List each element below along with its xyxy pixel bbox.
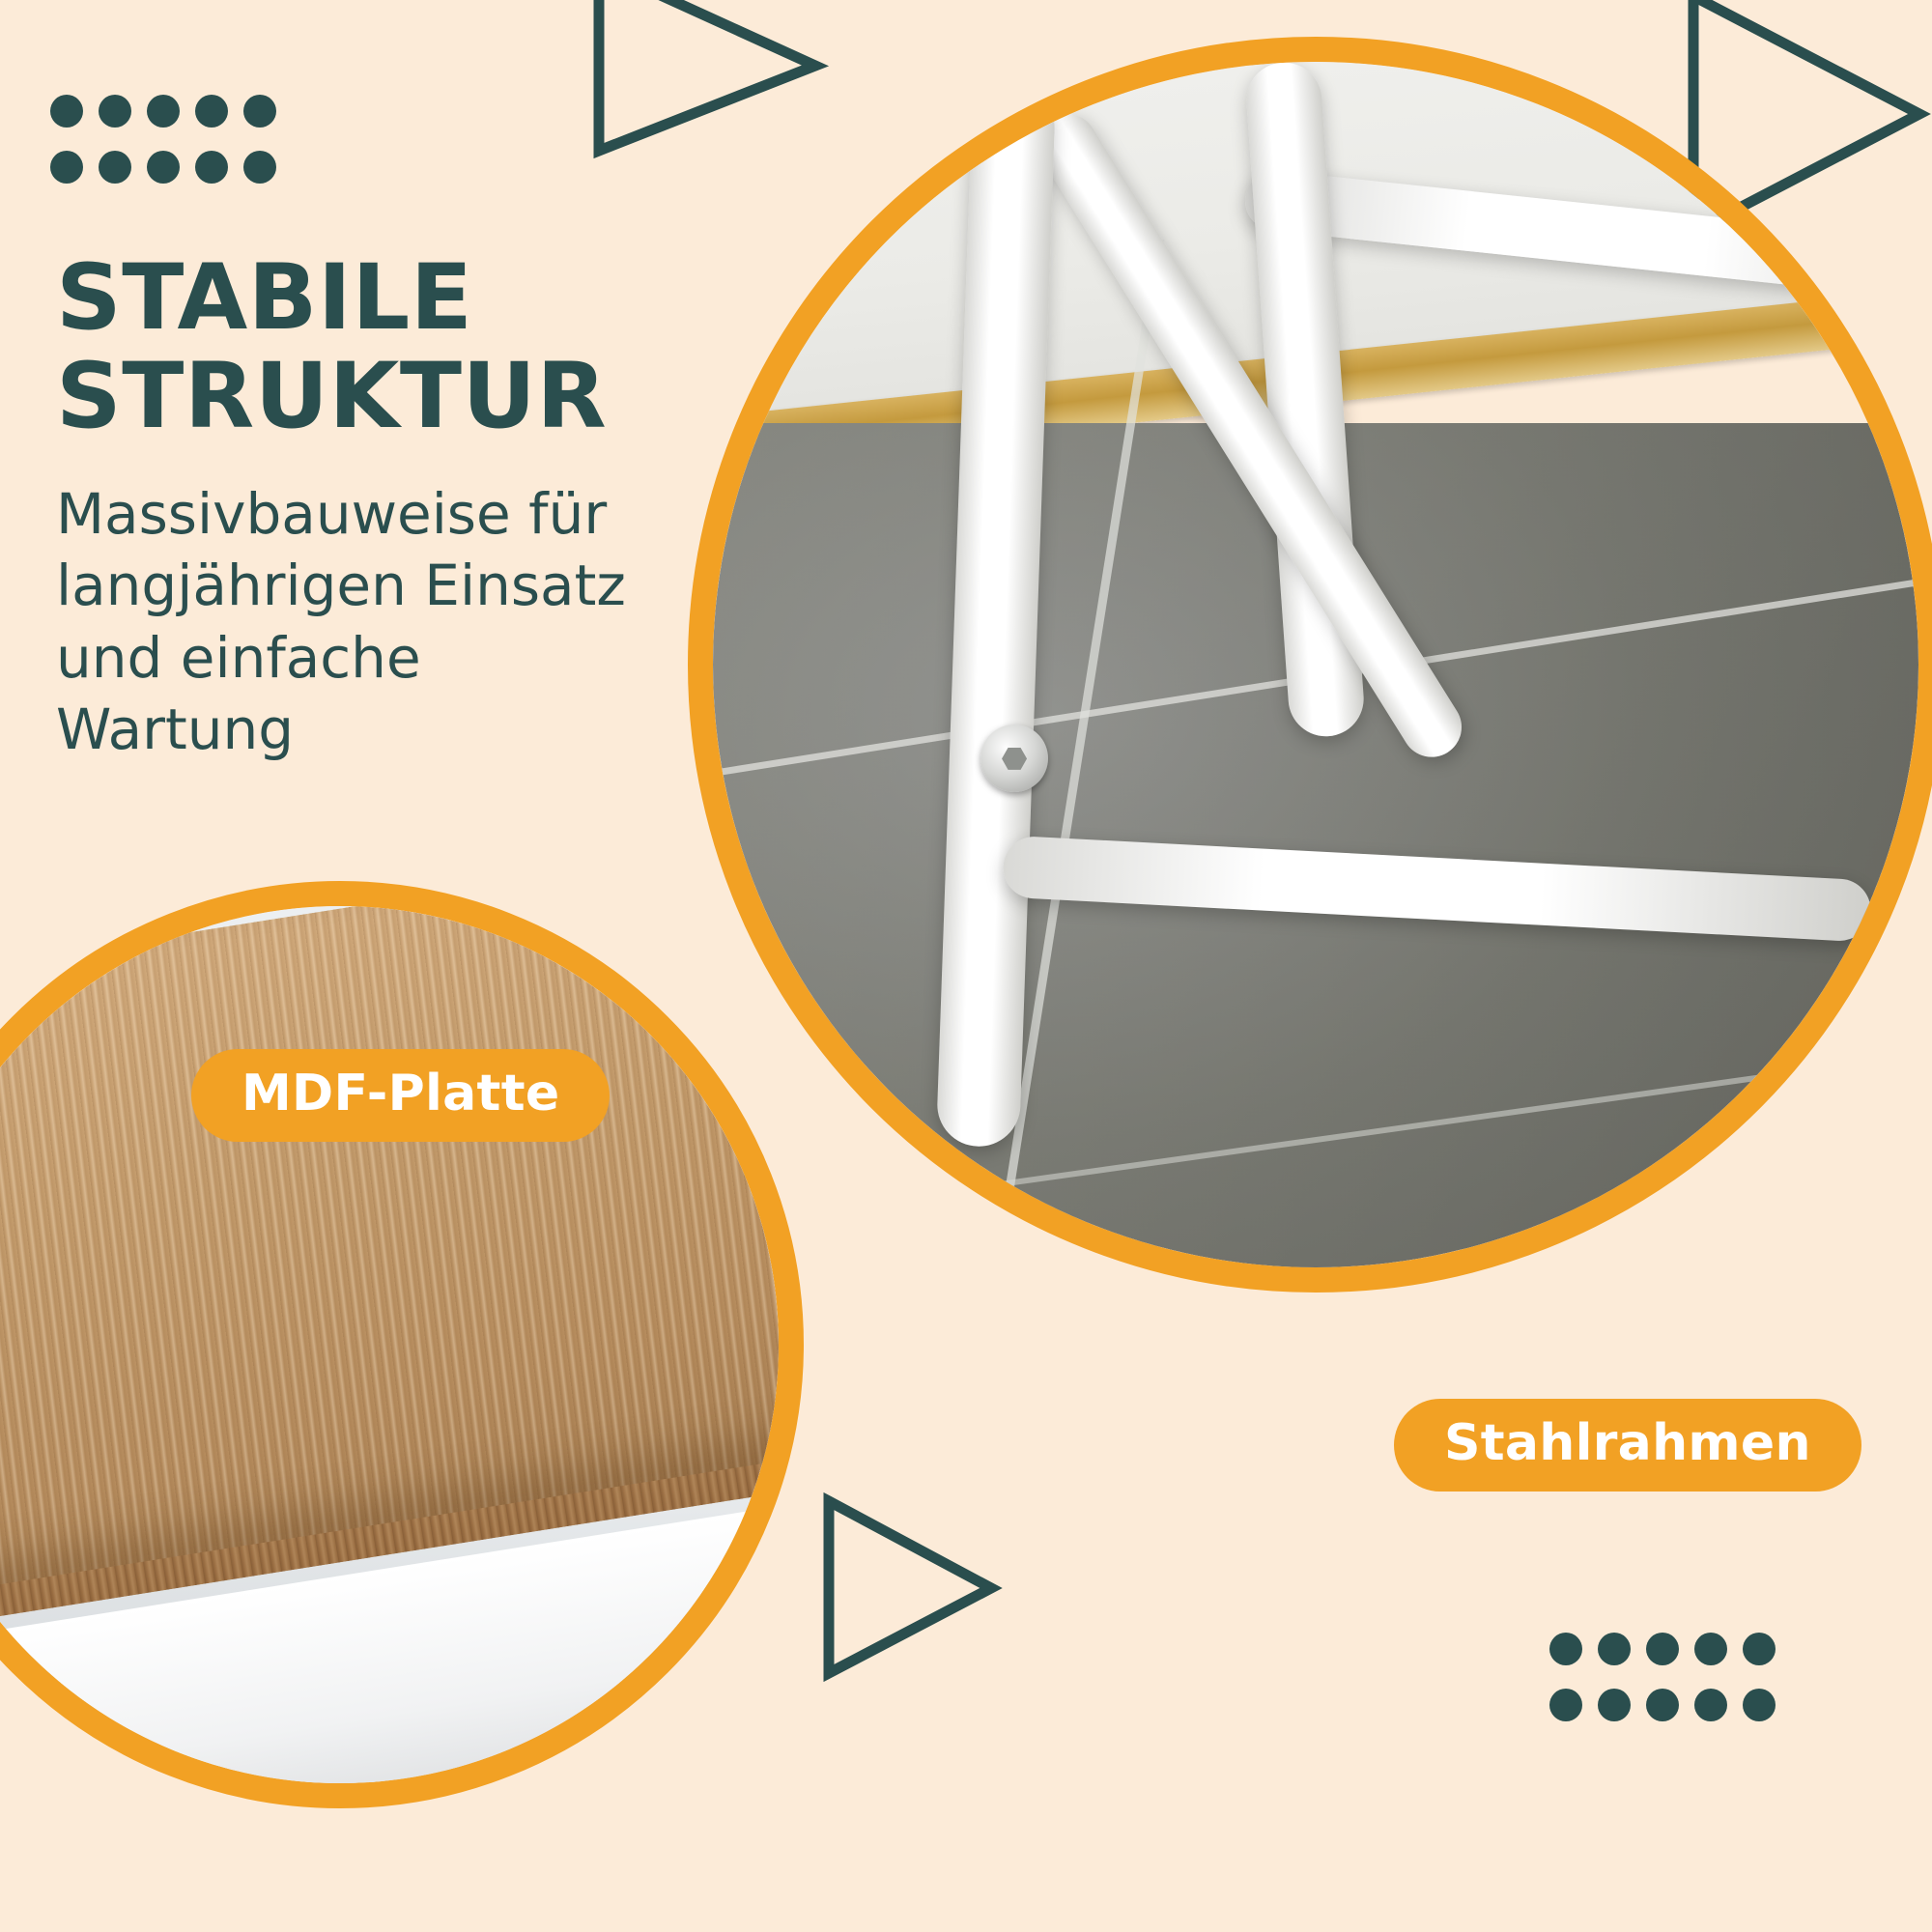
dot-icon [1598, 1633, 1631, 1665]
dot-grid-bottom-right-icon [1549, 1633, 1791, 1745]
tile-grout-line [713, 989, 1918, 1267]
dot-icon [1743, 1689, 1776, 1721]
dot-icon [1646, 1633, 1679, 1665]
page-subtitle: Massivbauweise für langjährigen Einsatz … [56, 478, 655, 765]
dot-icon [243, 95, 276, 128]
dot-icon [1549, 1633, 1582, 1665]
dot-icon [50, 95, 83, 128]
dot-icon [1598, 1689, 1631, 1721]
photo-circle-steel-frame [688, 37, 1932, 1293]
dot-icon [1646, 1689, 1679, 1721]
dot-icon [243, 151, 276, 184]
dot-grid-top-left-icon [50, 95, 292, 207]
page-title: STABILE STRUKTUR [56, 249, 790, 445]
photo-steel-frame [713, 62, 1918, 1267]
infographic-canvas: STABILE STRUKTUR Massivbauweise für lang… [0, 0, 1932, 1932]
dot-icon [195, 95, 228, 128]
hex-bolt-icon [980, 724, 1048, 792]
dot-icon [147, 95, 180, 128]
badge-stahlrahmen: Stahlrahmen [1394, 1399, 1861, 1492]
dot-icon [1694, 1689, 1727, 1721]
dot-icon [99, 151, 131, 184]
dot-icon [1743, 1633, 1776, 1665]
headline-block: STABILE STRUKTUR Massivbauweise für lang… [56, 249, 790, 765]
dot-icon [99, 95, 131, 128]
dot-icon [1549, 1689, 1582, 1721]
badge-mdf-platte: MDF-Platte [191, 1049, 610, 1142]
photo-mdf-top [0, 906, 779, 1783]
dot-icon [195, 151, 228, 184]
triangle-outline-center-right-icon [811, 1488, 1005, 1681]
dot-icon [50, 151, 83, 184]
dot-icon [1694, 1633, 1727, 1665]
dot-icon [147, 151, 180, 184]
photo-circle-mdf-top [0, 881, 804, 1808]
